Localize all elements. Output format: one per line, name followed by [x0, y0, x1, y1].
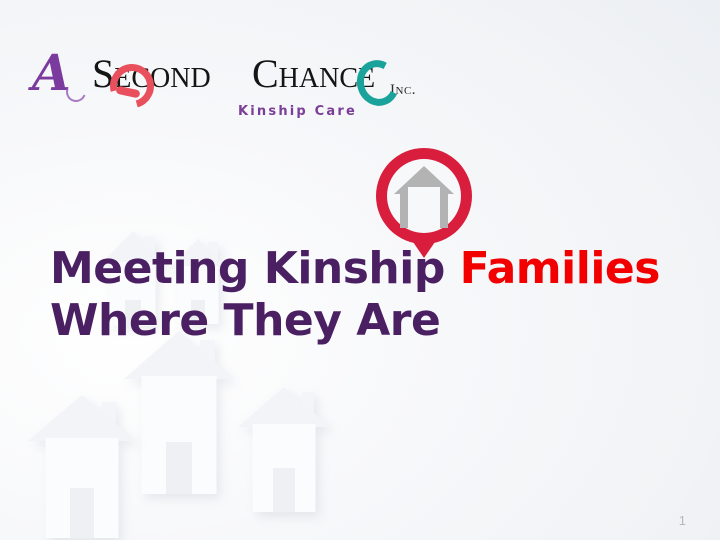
location-pin-house-icon — [376, 148, 472, 258]
presentation-slide: A Second Chance Inc. Kinship Care Meetin… — [0, 0, 720, 540]
pin-house-cutout — [408, 187, 440, 228]
logo-wordmark: A Second Chance Inc. — [30, 52, 410, 104]
house-right-medium — [238, 384, 330, 512]
title-line-2: Where They Are — [50, 295, 690, 347]
title-line-1-red: Families — [460, 243, 660, 294]
logo-tagline: Kinship Care — [238, 104, 357, 119]
title-line-1-purple: Meeting Kinship — [50, 243, 460, 294]
house-roof — [238, 384, 330, 427]
house-left-medium — [28, 392, 136, 538]
logo-letter-a: A — [32, 48, 69, 98]
page-number: 1 — [679, 513, 686, 528]
organization-logo: A Second Chance Inc. Kinship Care — [30, 52, 410, 130]
house-door — [70, 488, 94, 538]
house-body — [46, 438, 119, 538]
house-chimney — [302, 392, 314, 424]
house-door — [166, 442, 192, 494]
slide-title: Meeting Kinship Families Where They Are — [50, 243, 690, 347]
house-chimney — [102, 402, 116, 438]
house-body — [142, 376, 217, 494]
house-door — [273, 468, 295, 512]
title-line-1: Meeting Kinship Families — [50, 243, 690, 295]
pin-house-glyph — [394, 166, 454, 228]
house-body — [253, 424, 316, 512]
house-center-large — [124, 328, 234, 494]
house-roof — [28, 392, 136, 441]
